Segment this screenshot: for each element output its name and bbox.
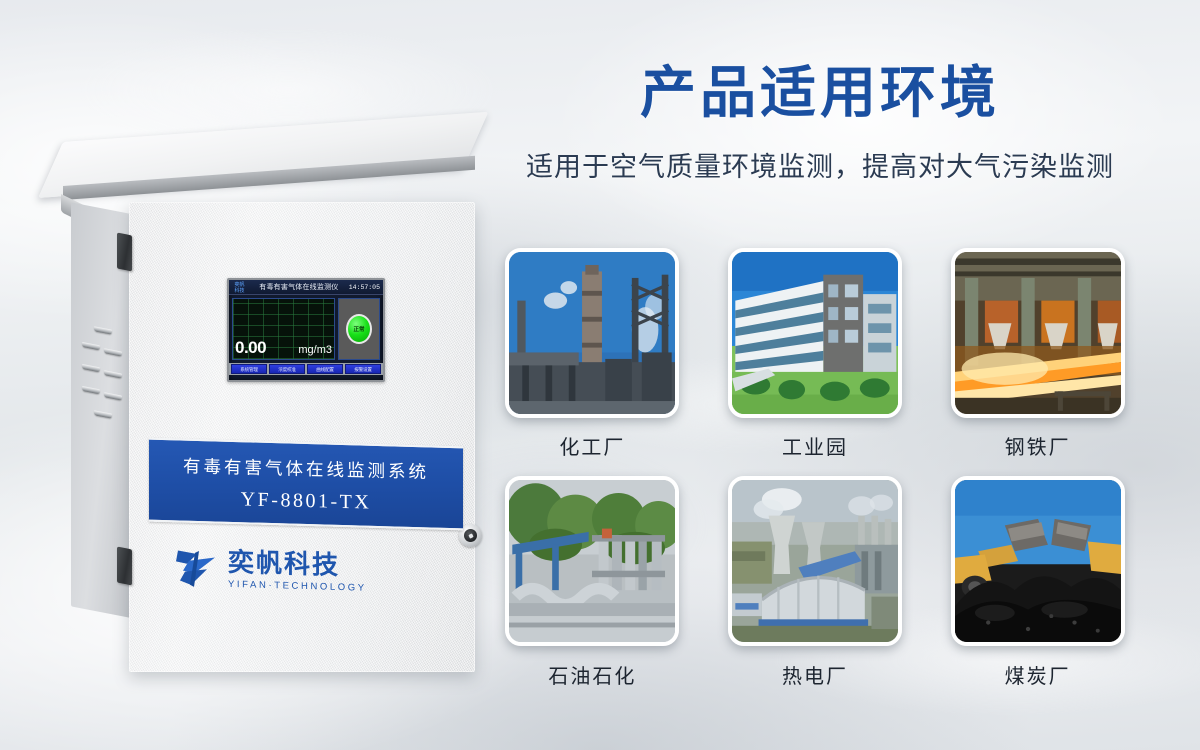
hmi-status-panel: 正常: [338, 298, 380, 360]
scene-label-steel-mill: 钢铁厂: [940, 431, 1135, 460]
hmi-body: 0.00 mg/m3 正常: [229, 295, 383, 363]
hmi-clock: 14:57:05: [349, 284, 383, 291]
hmi-button-curve[interactable]: 曲线配置: [307, 364, 343, 374]
cabinet-front-door: [129, 202, 475, 672]
lock-core-icon: [464, 529, 477, 542]
application-scene-grid: 化工厂: [495, 248, 1135, 689]
hmi-button-system[interactable]: 系统管理: [231, 364, 267, 374]
headline-block: 产品适用环境 适用于空气质量环境监测，提高对大气污染监测: [470, 62, 1170, 184]
cabinet-hinge-top: [117, 233, 132, 272]
status-indicator-lamp: 正常: [346, 314, 372, 344]
poster-stage: 产品适用环境 适用于空气质量环境监测，提高对大气污染监测 奕帆科技 有毒有害气体…: [0, 0, 1200, 750]
scene-image-industrial-park: [728, 248, 902, 418]
hmi-readout: 0.00 mg/m3: [235, 338, 332, 358]
hmi-concentration-value: 0.00: [235, 338, 266, 358]
product-brand-band: 有毒有害气体在线监测系统 YF-8801-TX: [149, 438, 463, 531]
scene-label-petrochemical: 石油石化: [495, 660, 690, 689]
cabinet-vent-louvers: [80, 322, 126, 439]
hmi-brand-logo: 奕帆科技: [230, 281, 249, 294]
yifan-sail-logo-icon: [175, 546, 221, 589]
scene-label-coal-yard: 煤炭厂: [940, 660, 1135, 689]
hmi-title: 有毒有害气体在线监测仪: [249, 282, 349, 292]
scene-image-chemical-plant: [505, 248, 679, 418]
scene-image-steel-mill: [951, 248, 1125, 418]
hmi-button-bar: 系统管理 浓度校准 曲线配置 报警设置: [229, 363, 383, 375]
scene-image-thermal-power-plant: [728, 476, 902, 646]
scene-card-steel-mill[interactable]: 钢铁厂: [940, 248, 1135, 460]
scene-card-petrochemical[interactable]: 石油石化: [495, 476, 690, 689]
hmi-header-bar: 奕帆科技 有毒有害气体在线监测仪 14:57:05: [229, 280, 383, 295]
cabinet-hinge-bottom: [117, 547, 132, 586]
page-subtitle: 适用于空气质量环境监测，提高对大气污染监测: [470, 145, 1170, 184]
hmi-trend-graph: 0.00 mg/m3: [232, 298, 335, 360]
scene-label-chemical-plant: 化工厂: [495, 431, 690, 460]
product-name-label: 有毒有害气体在线监测系统: [149, 452, 463, 485]
product-cabinet: 奕帆科技 有毒有害气体在线监测仪 14:57:05 0.00 mg/m3 正常 …: [55, 130, 475, 650]
scene-label-thermal-power-plant: 热电厂: [718, 660, 913, 689]
scene-card-thermal-power-plant[interactable]: 热电厂: [718, 476, 913, 689]
scene-image-petrochemical: [505, 476, 679, 646]
scene-card-chemical-plant[interactable]: 化工厂: [495, 248, 690, 460]
product-model-label: YF-8801-TX: [149, 486, 463, 517]
page-title: 产品适用环境: [470, 62, 1170, 125]
scene-image-coal-yard: [951, 476, 1125, 646]
scene-label-industrial-park: 工业园: [718, 431, 913, 460]
scene-card-coal-yard[interactable]: 煤炭厂: [940, 476, 1135, 689]
hmi-button-calibration[interactable]: 浓度校准: [269, 364, 305, 374]
hmi-display[interactable]: 奕帆科技 有毒有害气体在线监测仪 14:57:05 0.00 mg/m3 正常 …: [227, 278, 385, 382]
scene-card-industrial-park[interactable]: 工业园: [718, 248, 913, 460]
hmi-concentration-unit: mg/m3: [298, 344, 332, 356]
brand-logo: 奕帆科技 YIFAN·TECHNOLOGY: [175, 546, 435, 595]
brand-name-cn: 奕帆科技: [228, 549, 367, 579]
hmi-button-alarm[interactable]: 报警设置: [345, 364, 381, 374]
